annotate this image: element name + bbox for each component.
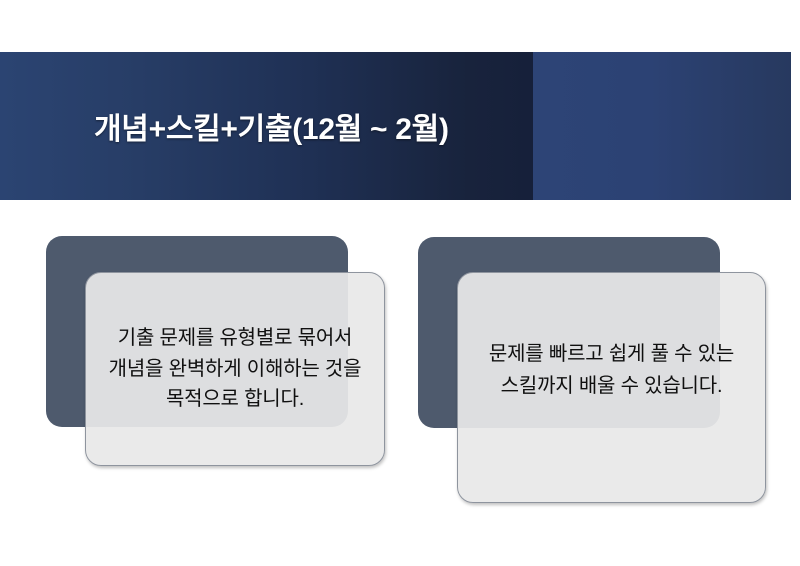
slide-title: 개념+스킬+기출(12월 ~ 2월) xyxy=(0,52,791,200)
card-left-text: 기출 문제를 유형별로 묶어서 개념을 완벽하게 이해하는 것을 목적으로 합니… xyxy=(86,323,384,415)
card-front-right: 문제를 빠르고 쉽게 풀 수 있는 스킬까지 배울 수 있습니다. xyxy=(457,272,766,503)
slide-canvas: 개념+스킬+기출(12월 ~ 2월) 기출 문제를 유형별로 묶어서 개념을 완… xyxy=(0,0,800,566)
card-right-text: 문제를 빠르고 쉽게 풀 수 있는 스킬까지 배울 수 있습니다. xyxy=(458,339,765,436)
card-front-left: 기출 문제를 유형별로 묶어서 개념을 완벽하게 이해하는 것을 목적으로 합니… xyxy=(85,272,385,466)
title-banner: 개념+스킬+기출(12월 ~ 2월) xyxy=(0,52,791,200)
